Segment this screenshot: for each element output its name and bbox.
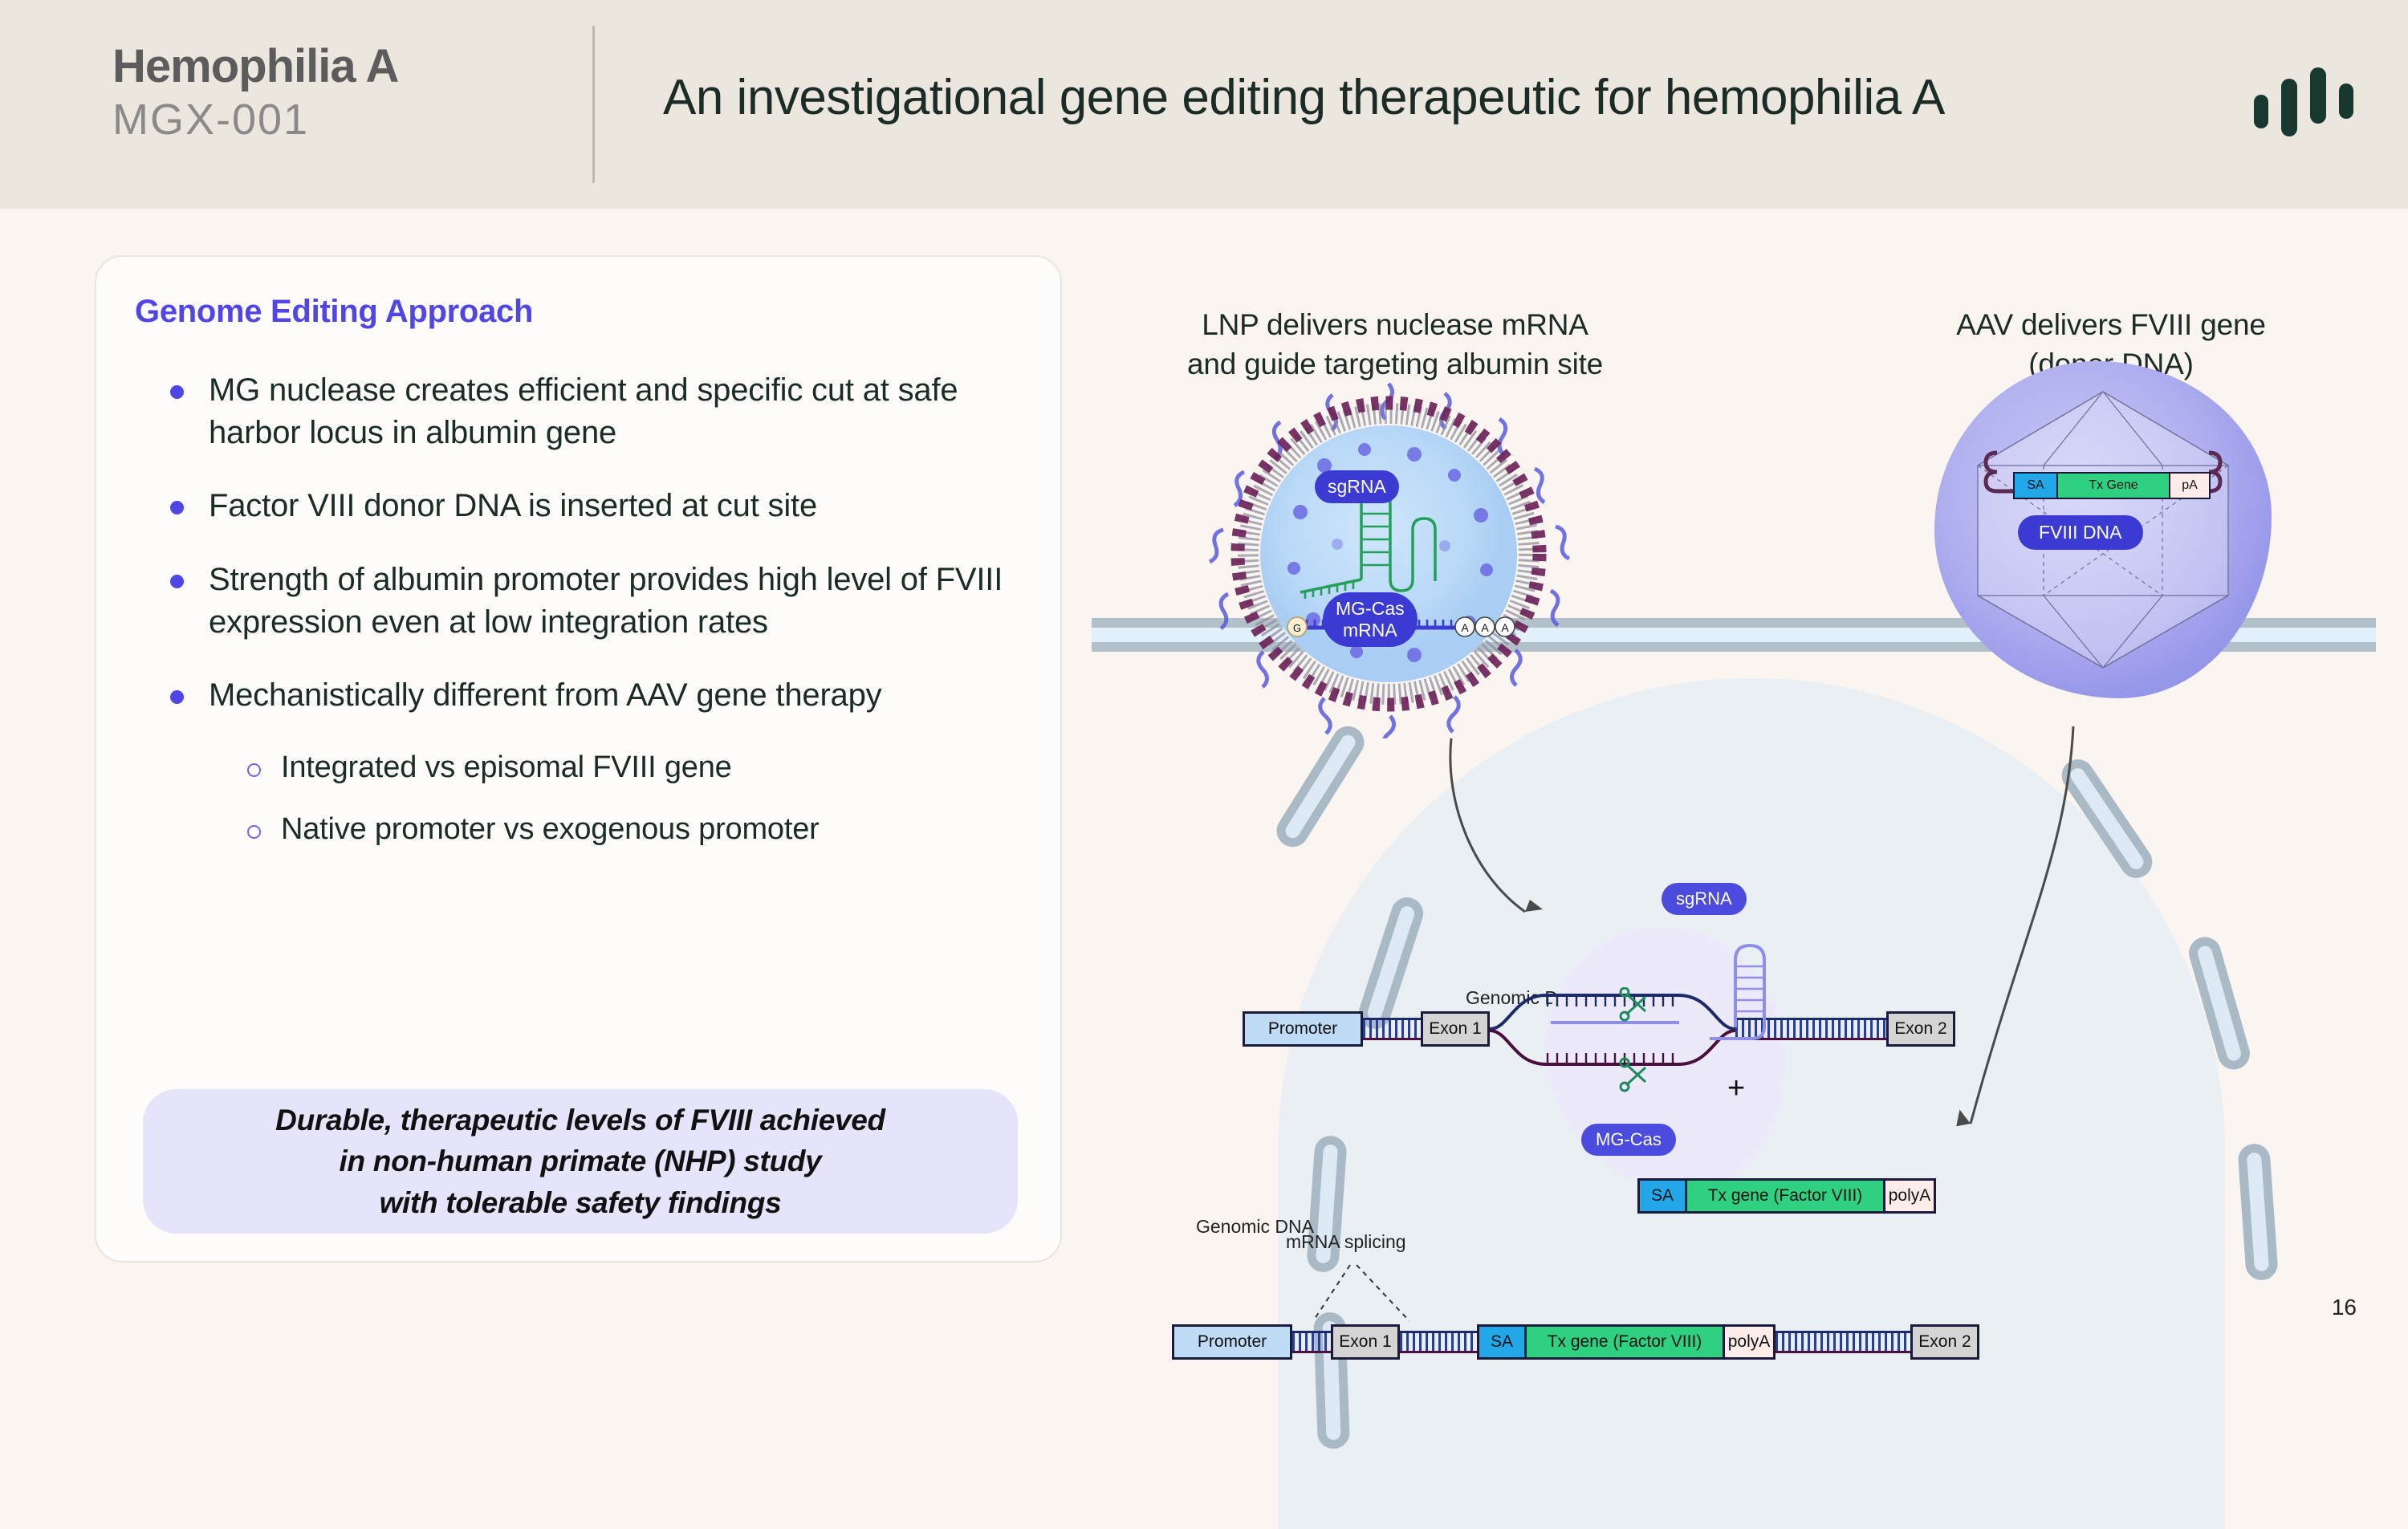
sub-bullet-ring-icon: [247, 763, 261, 777]
lnp-mrna-line-1: MG-Cas: [1336, 598, 1405, 620]
lnp-particle: G A A A sgRNA MG-Cas mRNA: [1204, 369, 1573, 738]
brand-line-2: MGX-001: [112, 96, 398, 144]
mrna-splicing-label: mRNA splicing: [1286, 1231, 1406, 1253]
bullet-dot-icon: [170, 385, 184, 399]
header-divider: [592, 26, 595, 183]
aav-cassette: SA Tx Gene pA: [2013, 472, 2211, 499]
card-title: Genome Editing Approach: [135, 294, 533, 330]
bullet-dot-icon: [170, 501, 184, 514]
dna-strand-segment: [1292, 1331, 1331, 1353]
nuclear-pore-icon: [2237, 1143, 2279, 1281]
slide-header: Hemophilia A MGX-001 An investigational …: [0, 0, 2408, 209]
svg-text:A: A: [1461, 621, 1469, 634]
list-item: Strength of albumin promoter provides hi…: [128, 559, 1027, 644]
sub-list-item: Native promoter vs exogenous promoter: [128, 809, 1027, 850]
svg-text:A: A: [1481, 621, 1489, 634]
bullet-list: MG nuclease creates efficient and specif…: [128, 369, 1027, 857]
aav-cassette-sa: SA: [2015, 474, 2058, 498]
bullet-dot-icon: [170, 575, 184, 588]
scissors-icon: [1618, 987, 1666, 1100]
bullet-text: Mechanistically different from AAV gene …: [209, 677, 881, 713]
aav-capsid: SA Tx Gene pA FVIII DNA: [1910, 337, 2296, 722]
integrated-tx-gene: Tx gene (Factor VIII): [1527, 1327, 1725, 1357]
donor-cassette: SA Tx gene (Factor VIII) polyA: [1637, 1178, 1936, 1214]
logo-bars-icon: [2254, 69, 2350, 133]
donor-polya: polyA: [1885, 1181, 1934, 1211]
plus-sign: +: [1727, 1072, 1745, 1106]
integrated-dna-row: Promoter Exon 1 SA Tx gene (Factor VIII)…: [1172, 1324, 1979, 1360]
bullet-text: Factor VIII donor DNA is inserted at cut…: [209, 488, 817, 523]
exon2-box-top: Exon 2: [1886, 1011, 1955, 1047]
donor-tx-gene: Tx gene (Factor VIII): [1687, 1181, 1885, 1211]
page-title: An investigational gene editing therapeu…: [663, 69, 2172, 126]
sub-bullet-text: Integrated vs episomal FVIII gene: [281, 750, 732, 784]
list-item: Mechanistically different from AAV gene …: [128, 674, 1027, 717]
dna-strand-segment: [1363, 1018, 1421, 1040]
promoter-box-top: Promoter: [1243, 1011, 1363, 1047]
aav-cassette-pa: pA: [2170, 474, 2209, 498]
bullet-text: MG nuclease creates efficient and specif…: [209, 372, 958, 450]
lnp-sgrna-tag: sgRNA: [1315, 470, 1399, 503]
sub-bullet-ring-icon: [247, 825, 261, 839]
list-item: Factor VIII donor DNA is inserted at cut…: [128, 485, 1027, 527]
aav-cassette-tx: Tx Gene: [2058, 474, 2170, 498]
exon1-box-top: Exon 1: [1421, 1011, 1490, 1047]
donor-sa: SA: [1640, 1181, 1687, 1211]
mechanism-diagram: LNP delivers nuclease mRNA and guide tar…: [1108, 241, 2360, 1284]
brand-line-1: Hemophilia A: [112, 42, 398, 92]
lnp-mrna-tag: MG-Cas mRNA: [1323, 592, 1418, 647]
callout-line-2: in non-human primate (NHP) study: [275, 1141, 885, 1181]
sgrna-tag-nucleus: sgRNA: [1662, 883, 1747, 915]
slide-root: Hemophilia A MGX-001 An investigational …: [0, 0, 2408, 1354]
dna-strand-segment: [1775, 1331, 1910, 1353]
dna-strand-segment: [1400, 1331, 1477, 1353]
aav-dna-tag: FVIII DNA: [2018, 515, 2143, 550]
integrated-sa: SA: [1479, 1327, 1527, 1357]
bullet-dot-icon: [170, 690, 184, 704]
exon1-box-bottom: Exon 1: [1331, 1324, 1400, 1360]
promoter-box-bottom: Promoter: [1172, 1324, 1292, 1360]
lnp-cap-letter: G: [1293, 622, 1301, 634]
nuclear-pore-icon: [1271, 720, 1370, 852]
genome-editing-card: Genome Editing Approach MG nuclease crea…: [95, 255, 1062, 1263]
mgcas-tag-nucleus: MG-Cas: [1581, 1124, 1676, 1156]
sub-list-item: Integrated vs episomal FVIII gene: [128, 747, 1027, 788]
lnp-mrna-line-2: mRNA: [1336, 620, 1405, 641]
brand-block: Hemophilia A MGX-001: [112, 42, 398, 144]
bullet-text: Strength of albumin promoter provides hi…: [209, 562, 1003, 640]
callout-line-1: Durable, therapeutic levels of FVIII ach…: [275, 1100, 885, 1141]
exon2-box-bottom: Exon 2: [1910, 1324, 1979, 1360]
lnp-caption-line-1: LNP delivers nuclease mRNA: [1154, 305, 1636, 344]
svg-text:A: A: [1501, 621, 1509, 634]
callout-line-3: with tolerable safety findings: [275, 1182, 885, 1223]
callout-text: Durable, therapeutic levels of FVIII ach…: [275, 1100, 885, 1222]
callout-box: Durable, therapeutic levels of FVIII ach…: [143, 1089, 1018, 1234]
list-item: MG nuclease creates efficient and specif…: [128, 369, 1027, 454]
integrated-polya: polyA: [1725, 1327, 1773, 1357]
page-number: 16: [2332, 1295, 2357, 1320]
integrated-cassette: SA Tx gene (Factor VIII) polyA: [1477, 1324, 1775, 1360]
sub-bullet-text: Native promoter vs exogenous promoter: [281, 812, 820, 846]
